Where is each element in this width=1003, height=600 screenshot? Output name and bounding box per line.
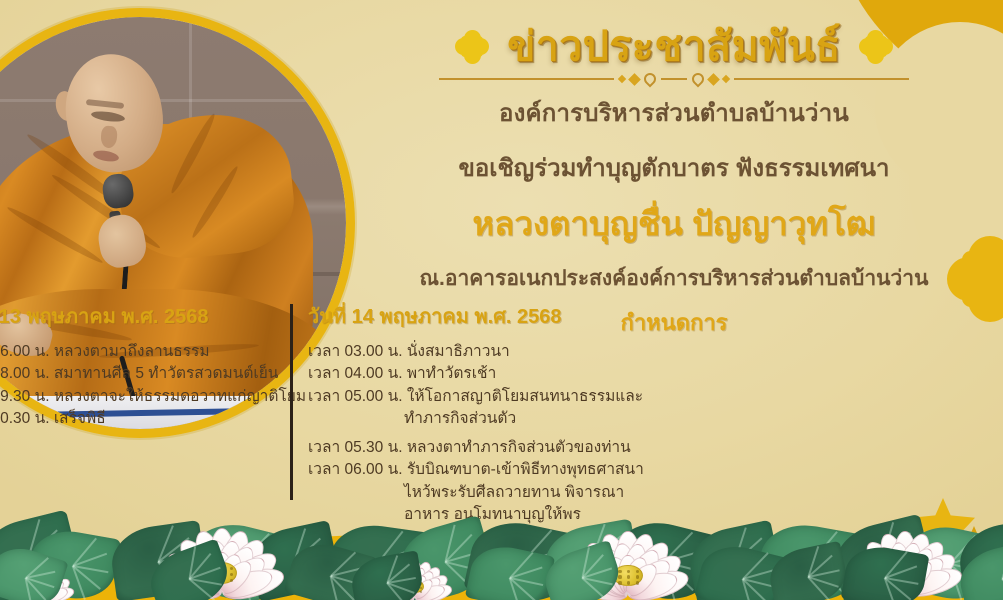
invitation-line: ขอเชิญร่วมทำบุญตักบาตร ฟังธรรมเทศนา (345, 148, 1003, 187)
list-item: เวลา 18.00 น. สมาทานศีล 5 ทำวัตรสวดมนต์เ… (0, 363, 276, 385)
title-row: ข่าวประชาสัมพันธ์ (345, 0, 1003, 69)
day2-heading: วันที่ 14 พฤษภาคม พ.ศ. 2568 (308, 300, 640, 332)
list-item: เวลา 06.00 น. รับบิณฑบาต-เข้าพิธีทางพุทธ… (308, 459, 640, 481)
list-item: เวลา 05.00 น. ให้โอกาสญาติโยมสนทนาธรรมแล… (308, 386, 640, 408)
list-item: เวลา 03.00 น. นั่งสมาธิภาวนา (308, 341, 640, 363)
page-title: ข่าวประชาสัมพันธ์ (507, 24, 841, 69)
list-item-continuation: ไหว้พระรับศีลถวายทาน พิจารณา (308, 482, 640, 504)
day2-item-list: เวลา 03.00 น. นั่งสมาธิภาวนา เวลา 04.00 … (308, 341, 640, 527)
list-item: เวลา 16.00 น. หลวงตามาถึงลานธรรม (0, 341, 276, 363)
lotus-leaf-icon (25, 525, 121, 600)
venue-line: ณ.อาคารอเนกประสงค์องค์การบริหารส่วนตำบลบ… (345, 262, 1003, 295)
lotus-leaf-icon (108, 520, 209, 600)
lotus-leaf-icon (143, 538, 235, 600)
announcement-poster: ข่าวประชาสัมพันธ์ องค์การบริหารส่วนตำบลบ… (0, 0, 1003, 600)
quatrefoil-flower-icon-left (455, 30, 489, 64)
day1-item-list: เวลา 16.00 น. หลวงตามาถึงลานธรรม เวลา 18… (0, 341, 276, 431)
list-item-continuation: ทำภารกิจส่วนตัว (308, 408, 640, 430)
quatrefoil-flower-icon-right (859, 30, 893, 64)
schedule-column-day1: วันที่ 13 พฤษภาคม พ.ศ. 2568 เวลา 16.00 น… (0, 300, 290, 431)
schedule-section: วันที่ 13 พฤษภาคม พ.ศ. 2568 เวลา 16.00 น… (0, 300, 658, 527)
lotus-seed-pod-icon (32, 584, 49, 596)
lotus-seed-pod-icon (207, 562, 237, 584)
column-separator (290, 304, 293, 500)
list-item: เวลา 04.00 น. พาทำวัตรเช้า (308, 363, 640, 385)
list-item: เวลา 20.30 น. เสร็จพิธี (0, 408, 276, 430)
lotus-leaf-icon (246, 520, 342, 600)
day1-heading: วันที่ 13 พฤษภาคม พ.ศ. 2568 (0, 300, 276, 332)
schedule-column-day2: วันที่ 14 พฤษภาคม พ.ศ. 2568 เวลา 03.00 น… (290, 300, 640, 527)
lotus-leaf-icon (183, 515, 298, 600)
lotus-leaf-icon (0, 540, 69, 600)
list-item-continuation: อาหาร อนุโมทนาบุญให้พร (308, 504, 640, 526)
monk-name: หลวงตาบุญชื่น ปัญญาวุทโฒ (345, 197, 1003, 250)
list-item: เวลา 05.30 น. หลวงตาทำภารกิจส่วนตัวของท่… (308, 437, 640, 459)
list-item: เวลา 19.30 น. หลวงตาจะให้ธรรมดอวาทแก่ญาต… (0, 386, 276, 408)
organization-name: องค์การบริหารส่วนตำบลบ้านว่าน (345, 93, 1003, 132)
title-divider-ornament (439, 73, 909, 85)
